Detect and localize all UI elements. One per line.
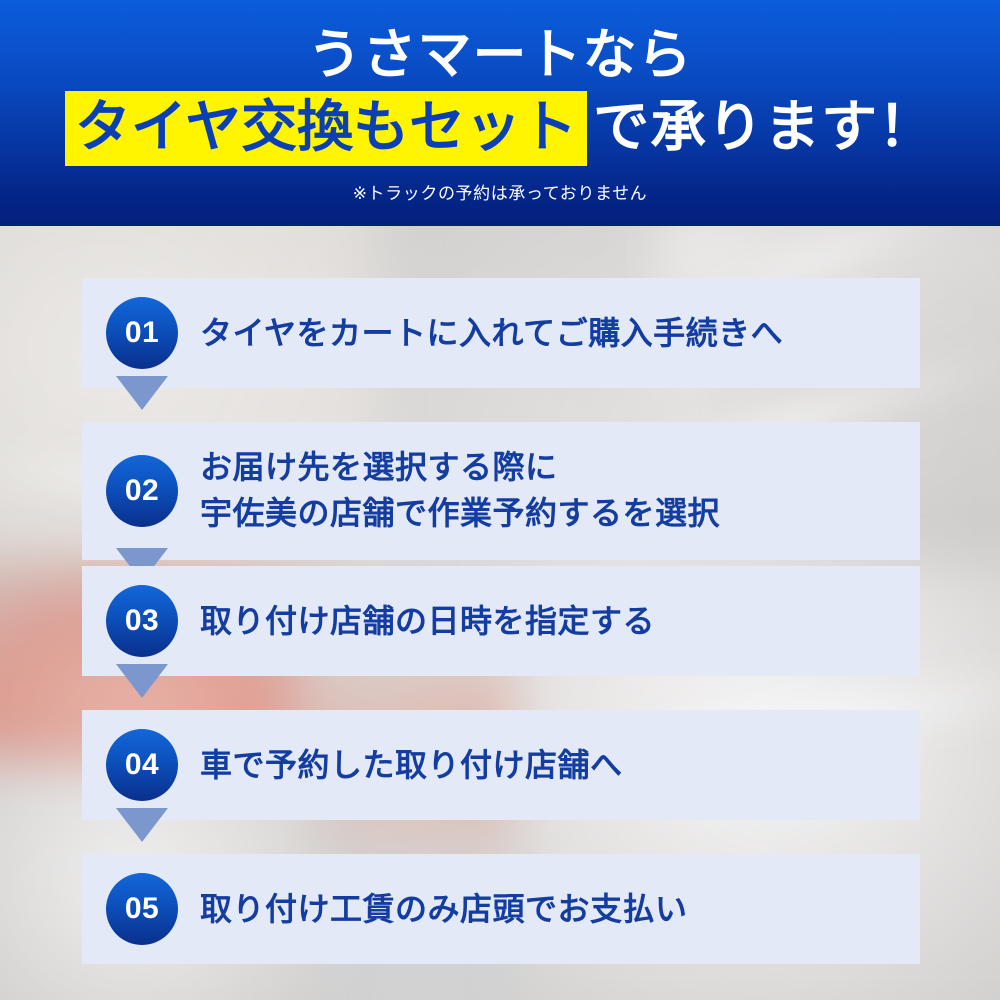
banner-header: うさマートなら タイヤ交換もセットで承ります！ ※トラックの予約は承っておりませ… <box>0 0 1000 226</box>
step-text-line: お届け先を選択する際に <box>200 444 906 490</box>
step-number-badge: 04 <box>106 729 178 801</box>
step-card-02: 02 お届け先を選択する際に 宇佐美の店舗で作業予約するを選択 <box>82 422 920 560</box>
step-number-badge: 01 <box>106 297 178 369</box>
step-card-04: 04 車で予約した取り付け店舗へ <box>82 710 920 820</box>
step-text-line: 取り付け工賃のみ店頭でお支払い <box>200 886 906 932</box>
step-list: 01 タイヤをカートに入れてご購入手続きへ 02 お届け先を選択する際に 宇佐美… <box>0 226 1000 1000</box>
down-arrow-icon <box>116 376 168 410</box>
step-text: 取り付け店舗の日時を指定する <box>200 598 906 644</box>
headline-secondary-rest: で承ります！ <box>593 95 935 158</box>
step-text-line: 取り付け店舗の日時を指定する <box>200 598 906 644</box>
step-text: タイヤをカートに入れてご購入手続きへ <box>200 310 906 356</box>
down-arrow-icon <box>116 808 168 842</box>
step-text: お届け先を選択する際に 宇佐美の店舗で作業予約するを選択 <box>200 444 906 536</box>
headline-highlight: タイヤ交換もセット <box>65 91 587 166</box>
step-number-badge: 02 <box>106 455 178 527</box>
step-text: 車で予約した取り付け店舗へ <box>200 742 906 788</box>
header-disclaimer-note: ※トラックの予約は承っておりません <box>0 182 1000 206</box>
headline-secondary: タイヤ交換もセットで承ります！ <box>0 94 1000 160</box>
step-number-badge: 05 <box>106 873 178 945</box>
step-card-05: 05 取り付け工賃のみ店頭でお支払い <box>82 854 920 964</box>
step-text-line: 車で予約した取り付け店舗へ <box>200 742 906 788</box>
down-arrow-icon <box>116 664 168 698</box>
step-card-01: 01 タイヤをカートに入れてご購入手続きへ <box>82 278 920 388</box>
step-text-line: 宇佐美の店舗で作業予約するを選択 <box>200 490 906 536</box>
step-card-03: 03 取り付け店舗の日時を指定する <box>82 566 920 676</box>
step-number-badge: 03 <box>106 585 178 657</box>
promo-banner: うさマートなら タイヤ交換もセットで承ります！ ※トラックの予約は承っておりませ… <box>0 0 1000 1000</box>
step-text-line: タイヤをカートに入れてご購入手続きへ <box>200 310 906 356</box>
headline-primary: うさマートなら <box>0 22 1000 88</box>
step-text: 取り付け工賃のみ店頭でお支払い <box>200 886 906 932</box>
